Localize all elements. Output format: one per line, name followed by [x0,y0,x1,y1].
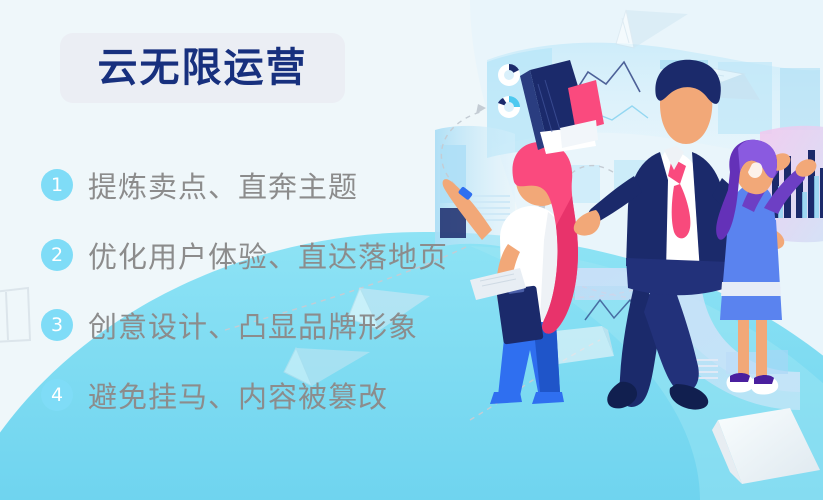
list-item: 4 避免挂马、内容被篡改 [41,360,511,430]
page-title: 云无限运营 [98,48,308,88]
promo-banner: 云无限运营 1 提炼卖点、直奔主题 2 优化用户体验、直达落地页 3 创意设计、… [0,0,823,500]
title-badge: 云无限运营 [60,33,345,103]
list-item: 2 优化用户体验、直达落地页 [41,220,511,290]
donut-chart-bottom [498,96,520,118]
list-item-label: 提炼卖点、直奔主题 [88,164,358,206]
list-item-label: 避免挂马、内容被篡改 [88,374,388,416]
list-item-number-badge: 2 [41,239,73,271]
donut-chart-top [498,64,520,86]
list-item: 3 创意设计、凸显品牌形象 [41,290,511,360]
list-item-number-badge: 4 [41,379,73,411]
list-item-label: 创意设计、凸显品牌形象 [88,304,418,346]
list-item-number-badge: 3 [41,309,73,341]
feature-list: 1 提炼卖点、直奔主题 2 优化用户体验、直达落地页 3 创意设计、凸显品牌形象… [41,150,511,430]
list-item-label: 优化用户体验、直达落地页 [88,234,448,276]
list-item-number-badge: 1 [41,169,73,201]
list-item: 1 提炼卖点、直奔主题 [41,150,511,220]
